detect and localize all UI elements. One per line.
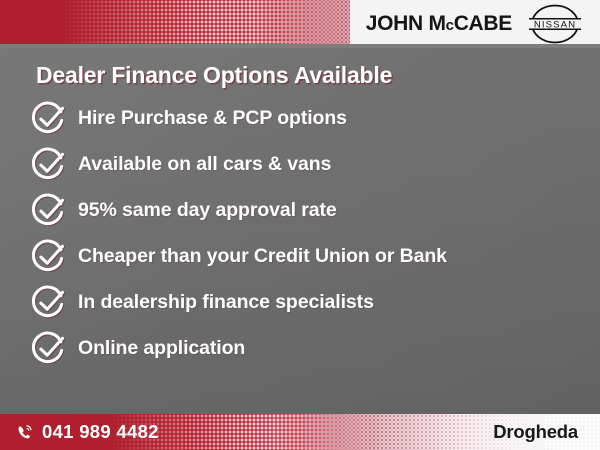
list-item: Online application (0, 325, 600, 371)
list-item: Available on all cars & vans (0, 141, 600, 187)
dealer-name-part1: JOHN M (366, 12, 446, 36)
list-item-label: Cheaper than your Credit Union or Bank (78, 245, 447, 268)
nissan-logo-label: NISSAN (534, 20, 576, 31)
list-item: 95% same day approval rate (0, 187, 600, 233)
list-item-label: Online application (78, 337, 245, 360)
phone-contact[interactable]: 041 989 4482 (16, 414, 159, 450)
dealer-location: Drogheda (493, 414, 578, 450)
check-circle-icon (30, 237, 68, 275)
list-item: Hire Purchase & PCP options (0, 95, 600, 141)
check-circle-icon (30, 283, 68, 321)
header-branding: JOHN McCABE NISSAN (350, 0, 600, 48)
dealer-logo-text: JOHN McCABE (366, 12, 512, 36)
list-item-label: Available on all cars & vans (78, 153, 331, 176)
dealer-name-superscript: c (446, 17, 454, 34)
list-item: Cheaper than your Credit Union or Bank (0, 233, 600, 279)
list-item-label: Hire Purchase & PCP options (78, 107, 347, 130)
phone-icon (16, 424, 33, 441)
check-circle-icon (30, 329, 68, 367)
list-item: In dealership finance specialists (0, 279, 600, 325)
check-circle-icon (30, 191, 68, 229)
list-item-label: In dealership finance specialists (78, 291, 374, 314)
dealer-name-part2: CABE (454, 12, 512, 36)
phone-number: 041 989 4482 (42, 421, 159, 443)
advert-footer: 041 989 4482 Drogheda (0, 414, 600, 450)
advert-header: JOHN McCABE NISSAN (0, 0, 600, 48)
nissan-badge-icon: NISSAN (524, 2, 586, 46)
page-title: Dealer Finance Options Available (36, 62, 600, 89)
dealer-finance-advert: JOHN McCABE NISSAN Dealer Finance Option… (0, 0, 600, 450)
list-item-label: 95% same day approval rate (78, 199, 337, 222)
check-circle-icon (30, 145, 68, 183)
advert-body: Dealer Finance Options Available Hire Pu… (0, 48, 600, 414)
finance-benefits-list: Hire Purchase & PCP options Available on… (0, 95, 600, 371)
check-circle-icon (30, 99, 68, 137)
